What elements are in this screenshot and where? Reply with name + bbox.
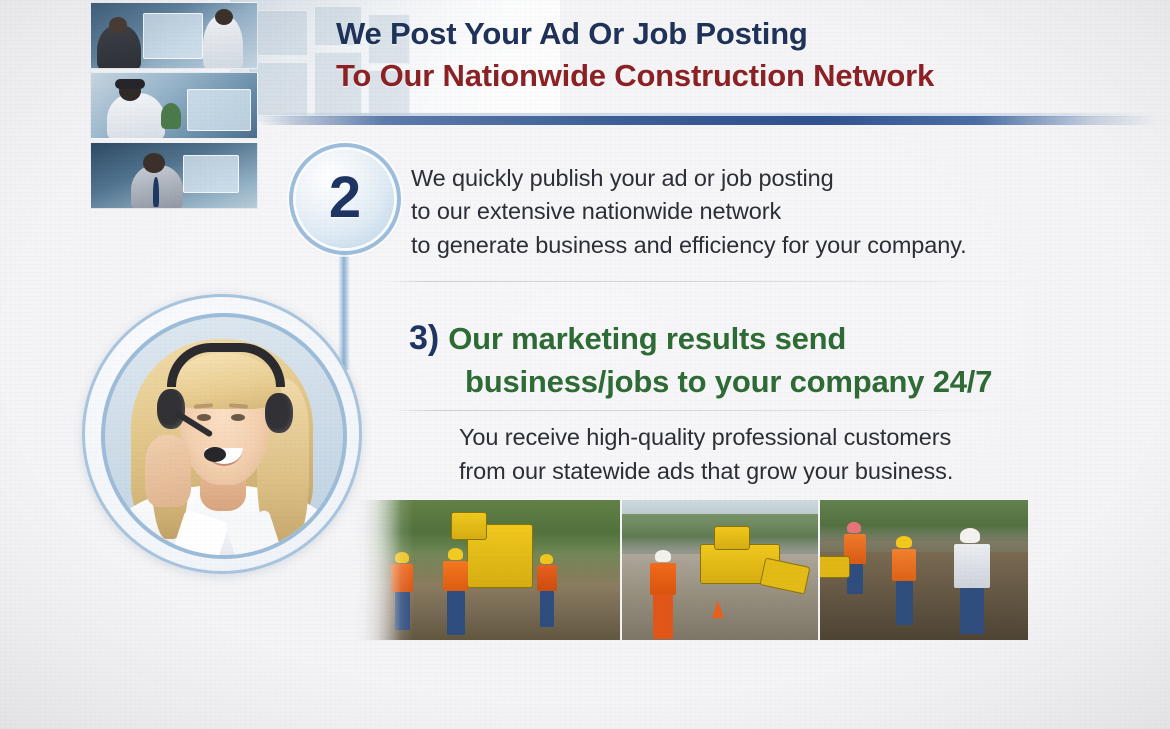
slide-canvas: We Post Your Ad Or Job Posting To Our Na… — [0, 0, 1170, 729]
headline-line-1: We Post Your Ad Or Job Posting — [336, 16, 934, 53]
step2-line-1: We quickly publish your ad or job postin… — [411, 162, 967, 195]
step3-sub-line-1: You receive high-quality professional cu… — [459, 420, 953, 454]
step2-line-2: to our extensive nationwide network — [411, 195, 967, 228]
agent-portrait-circle — [82, 294, 362, 574]
headline: We Post Your Ad Or Job Posting To Our Na… — [336, 16, 934, 94]
equipment-edge — [820, 556, 850, 578]
step3-body-text: You receive high-quality professional cu… — [459, 420, 953, 488]
office-photo-3 — [90, 142, 258, 209]
step3-sub-line-2: from our statewide ads that grow your bu… — [459, 454, 953, 488]
portrait-inner-ring — [101, 313, 347, 559]
headline-line-2: To Our Nationwide Construction Network — [336, 58, 934, 95]
step3-marker-label: 3) — [409, 319, 439, 357]
portrait-eye-left — [197, 414, 211, 421]
step3-heading-line-2: business/jobs to your company 24/7 — [465, 363, 992, 401]
step3-heading-line-1: Our marketing results send — [448, 321, 846, 356]
office-photo-2 — [90, 72, 258, 139]
headset-earcup-left-icon — [157, 389, 185, 429]
truck-cab — [451, 512, 487, 540]
construction-photo-1 — [355, 500, 620, 640]
section-divider-upper — [384, 281, 1049, 282]
headset-earcup-right-icon — [265, 393, 293, 433]
headset-microphone-icon — [204, 447, 226, 462]
traffic-cone-icon — [712, 600, 724, 618]
portrait-hand — [145, 435, 191, 507]
step2-number-label: 2 — [329, 169, 361, 227]
header-rule — [258, 116, 1158, 125]
step2-number-badge: 2 — [296, 150, 394, 248]
construction-photo-3 — [820, 500, 1028, 640]
construction-photo-row — [330, 500, 1030, 640]
portrait-eye-right — [231, 414, 245, 421]
step2-line-3: to generate business and efficiency for … — [411, 229, 967, 262]
construction-photo-2 — [622, 500, 818, 640]
office-photo-strip — [90, 2, 258, 209]
loader-cab — [714, 526, 750, 550]
office-photo-1 — [90, 2, 258, 69]
step2-body-text: We quickly publish your ad or job postin… — [411, 162, 967, 262]
section-divider-lower — [392, 410, 1047, 411]
step3-heading: 3)Our marketing results send business/jo… — [409, 318, 992, 401]
